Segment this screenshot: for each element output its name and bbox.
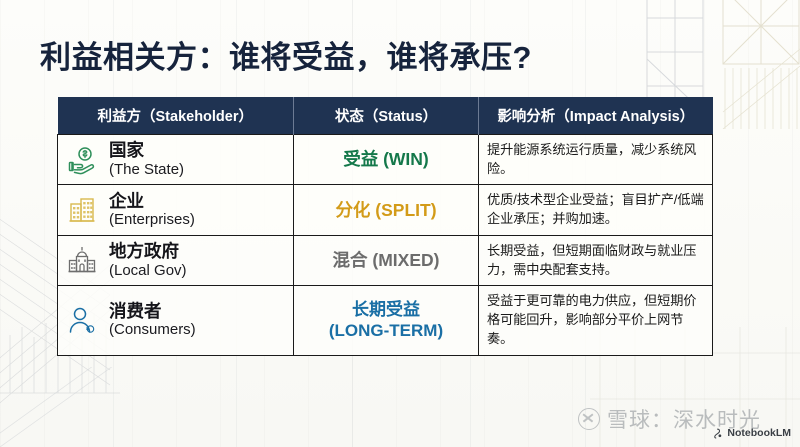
- status-badge: 长期受益 (LONG-TERM): [302, 300, 470, 340]
- hand-holding-money-icon: [66, 144, 98, 176]
- stakeholder-name-cn: 地方政府: [109, 242, 187, 262]
- stakeholder-name-en: (Local Gov): [109, 263, 187, 280]
- status-cell: 受益 (WIN): [294, 135, 479, 185]
- notebooklm-logo-icon: [712, 428, 723, 439]
- table-header-row: 利益方（Stakeholder） 状态（Status） 影响分析（Impact …: [58, 97, 713, 135]
- xueqiu-logo-icon: [578, 408, 600, 430]
- impact-text: 优质/技术型企业受益；盲目扩产/低端企业承压；并购加速。: [487, 191, 704, 228]
- column-header-status: 状态（Status）: [294, 97, 479, 135]
- status-cell: 分化 (SPLIT): [294, 185, 479, 235]
- status-cell: 长期受益 (LONG-TERM): [294, 286, 479, 355]
- status-badge: 混合 (MIXED): [302, 250, 470, 271]
- government-building-icon: [66, 245, 98, 277]
- consumer-person-icon: [66, 305, 98, 337]
- notebooklm-label: NotebookLM: [727, 427, 791, 439]
- impact-text: 长期受益，但短期面临财政与就业压力，需中央配套支持。: [487, 242, 704, 279]
- stakeholder-cell: 消费者 (Consumers): [58, 286, 294, 355]
- table-row: 企业 (Enterprises) 分化 (SPLIT) 优质/技术型企业受益；盲…: [58, 185, 713, 235]
- impact-cell: 长期受益，但短期面临财政与就业压力，需中央配套支持。: [479, 235, 713, 285]
- column-header-stakeholder: 利益方（Stakeholder）: [58, 97, 294, 135]
- table-row: 消费者 (Consumers) 长期受益 (LONG-TERM) 受益于更可靠的…: [58, 286, 713, 355]
- stakeholder-name-cn: 国家: [109, 141, 184, 161]
- page-title: 利益相关方：谁将受益，谁将承压?: [40, 32, 532, 77]
- status-cell: 混合 (MIXED): [294, 235, 479, 285]
- impact-text: 受益于更可靠的电力供应，但短期价格可能回升，影响部分平价上网节奏。: [487, 292, 704, 348]
- slide-canvas: 利益相关方：谁将受益，谁将承压? 利益方（Stakeholder） 状态（Sta…: [0, 0, 800, 447]
- table-body: 国家 (The State) 受益 (WIN) 提升能源系统运行质量，减少系统风…: [58, 135, 713, 356]
- office-building-icon: [66, 194, 98, 226]
- table-header: 利益方（Stakeholder） 状态（Status） 影响分析（Impact …: [58, 97, 713, 135]
- table-row: 国家 (The State) 受益 (WIN) 提升能源系统运行质量，减少系统风…: [58, 135, 713, 185]
- stakeholder-name-en: (The State): [109, 162, 184, 179]
- status-line-1: 长期受益: [352, 300, 420, 319]
- column-header-impact: 影响分析（Impact Analysis）: [479, 97, 713, 135]
- stakeholder-name-cn: 消费者: [109, 302, 196, 322]
- status-badge: 受益 (WIN): [302, 149, 470, 170]
- stakeholder-cell: 国家 (The State): [58, 135, 294, 185]
- bg-diagonal-corner-bottomleft: [0, 367, 150, 447]
- impact-cell: 受益于更可靠的电力供应，但短期价格可能回升，影响部分平价上网节奏。: [479, 286, 713, 355]
- impact-cell: 优质/技术型企业受益；盲目扩产/低端企业承压；并购加速。: [479, 185, 713, 235]
- status-badge: 分化 (SPLIT): [302, 200, 470, 221]
- stakeholder-name-en: (Consumers): [109, 322, 196, 339]
- stakeholder-name-cn: 企业: [109, 192, 195, 212]
- stakeholder-table: 利益方（Stakeholder） 状态（Status） 影响分析（Impact …: [57, 97, 713, 356]
- stakeholder-cell: 地方政府 (Local Gov): [58, 235, 294, 285]
- stakeholder-name-en: (Enterprises): [109, 212, 195, 229]
- status-line-2: (LONG-TERM): [329, 321, 443, 340]
- notebooklm-badge: NotebookLM: [712, 427, 791, 439]
- table-row: 地方政府 (Local Gov) 混合 (MIXED) 长期受益，但短期面临财政…: [58, 235, 713, 285]
- impact-cell: 提升能源系统运行质量，减少系统风险。: [479, 135, 713, 185]
- impact-text: 提升能源系统运行质量，减少系统风险。: [487, 141, 704, 178]
- stakeholder-cell: 企业 (Enterprises): [58, 185, 294, 235]
- stakeholder-table-container: 利益方（Stakeholder） 状态（Status） 影响分析（Impact …: [57, 97, 712, 356]
